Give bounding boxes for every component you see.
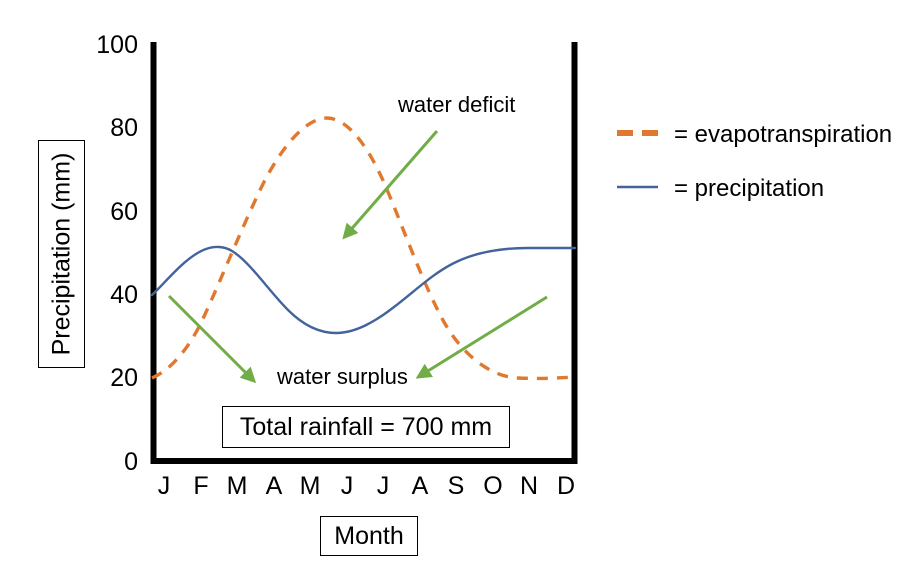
x-tick-label-apr: A	[259, 474, 289, 499]
x-tick-label-oct: O	[478, 474, 508, 499]
x-tick-label-dec: D	[551, 474, 581, 499]
y-tick-label-60: 60	[78, 200, 138, 225]
x-tick-label-may: M	[295, 474, 325, 499]
y-tick-label-40: 40	[78, 283, 138, 308]
x-tick-label-mar: M	[222, 474, 252, 499]
legend-label-evapotranspiration: = evapotranspiration	[674, 123, 892, 147]
water-surplus-arrow-left	[169, 296, 250, 377]
x-tick-label-jan: J	[149, 474, 179, 499]
x-tick-label-nov: N	[514, 474, 544, 499]
y-tick-label-0: 0	[78, 450, 138, 475]
chart-page: 100 80 60 40 20 0 J F M A M J J A S O N …	[0, 0, 908, 578]
x-tick-label-sep: S	[441, 474, 471, 499]
x-axis-title-box: Month	[320, 516, 418, 556]
water-deficit-arrow	[348, 131, 437, 233]
water-surplus-label: water surplus	[277, 366, 408, 388]
total-rainfall-box: Total rainfall = 700 mm	[222, 406, 510, 448]
water-deficit-label: water deficit	[398, 94, 515, 116]
x-tick-label-feb: F	[186, 474, 216, 499]
x-tick-label-aug: A	[405, 474, 435, 499]
total-rainfall-label: Total rainfall = 700 mm	[240, 415, 492, 440]
y-tick-label-100: 100	[78, 33, 138, 58]
y-tick-label-80: 80	[78, 116, 138, 141]
water-surplus-arrow-right	[423, 297, 547, 374]
legend-label-precipitation: = precipitation	[674, 177, 824, 201]
y-tick-label-20: 20	[78, 366, 138, 391]
x-tick-label-jul: J	[368, 474, 398, 499]
y-axis-title-box: Precipitation (mm)	[38, 140, 85, 368]
y-axis-title-label: Precipitation (mm)	[49, 153, 74, 356]
x-tick-label-jun: J	[332, 474, 362, 499]
x-axis-title-label: Month	[334, 524, 403, 549]
